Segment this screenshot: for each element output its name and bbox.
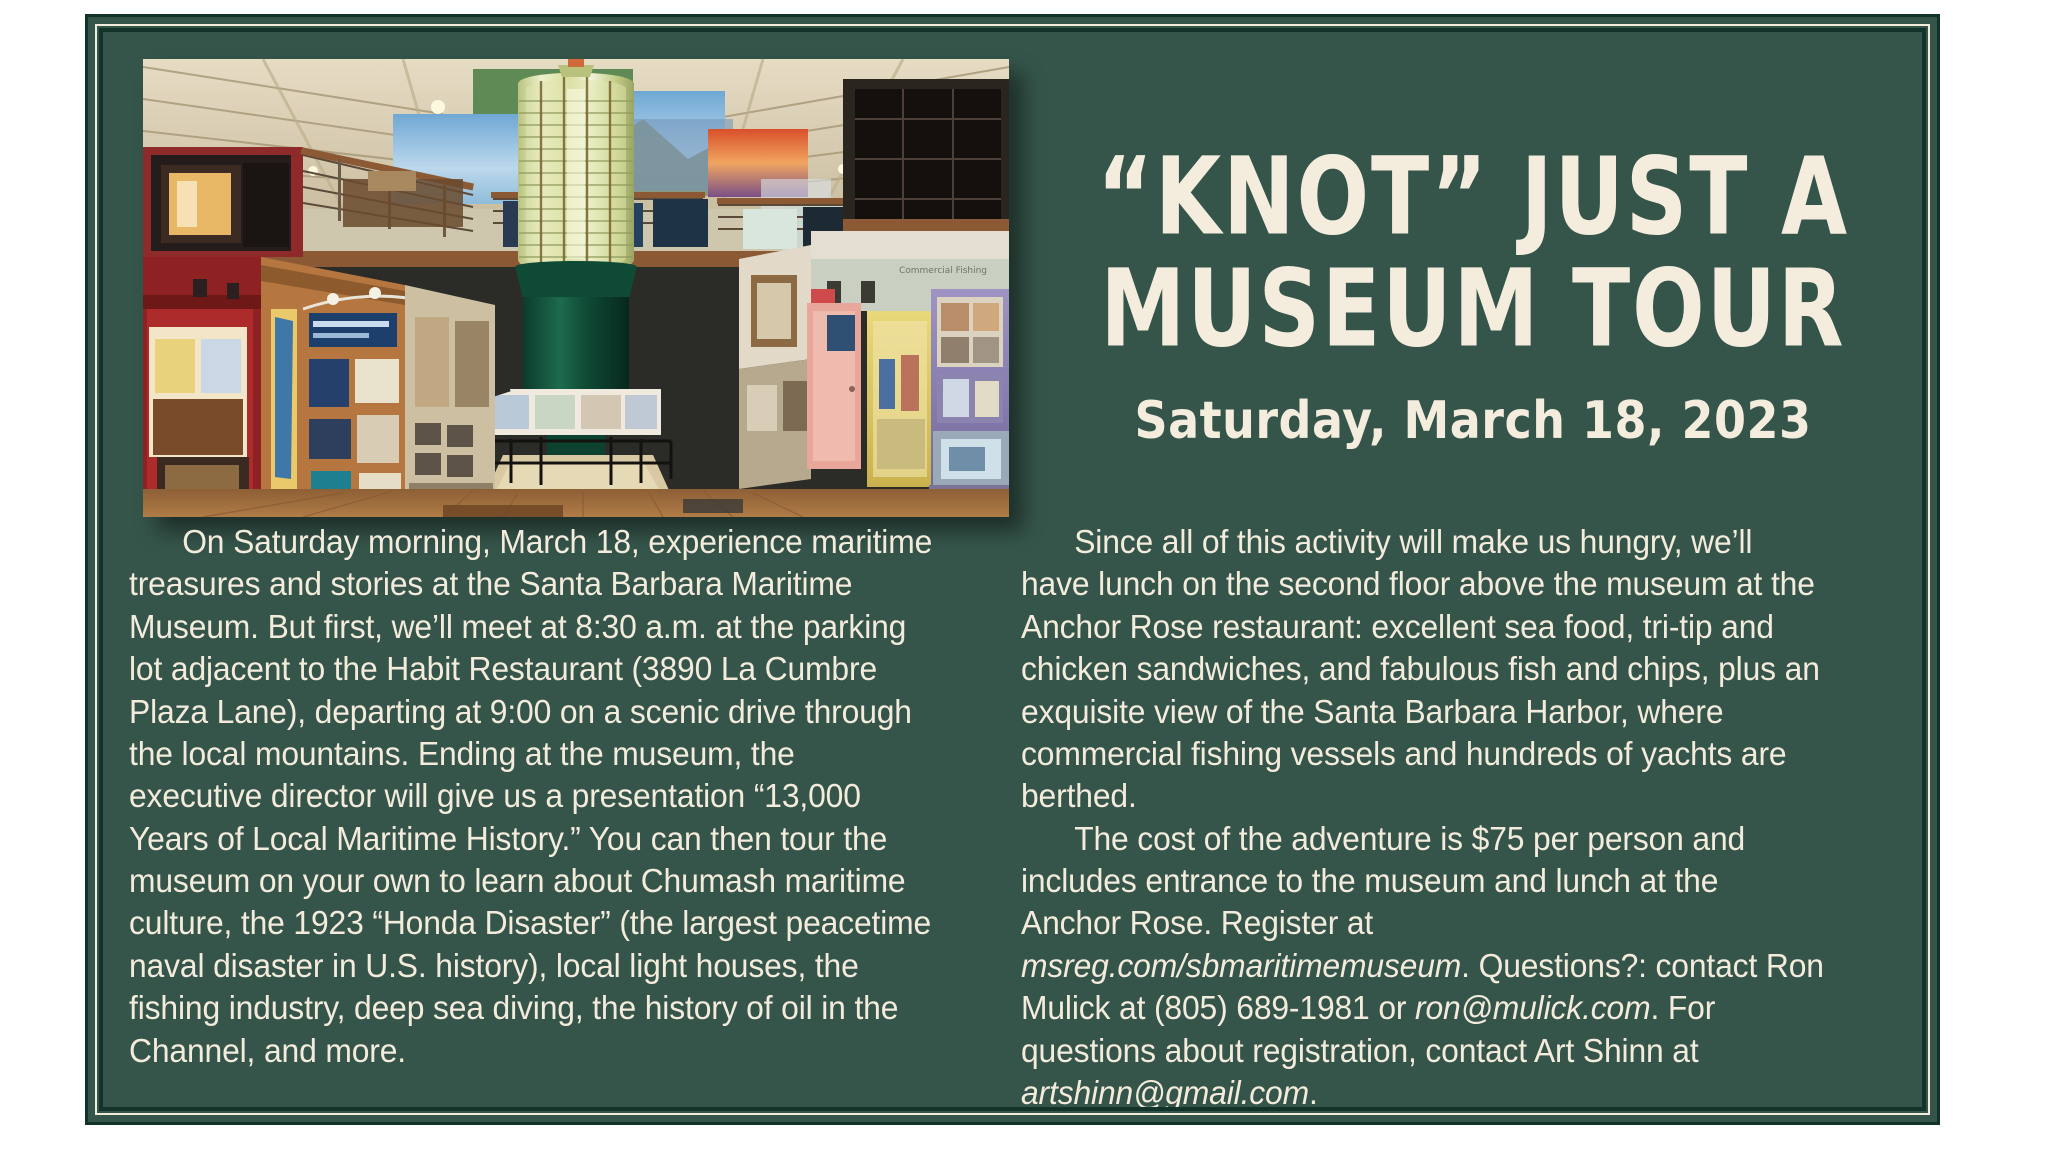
body-column-left: On Saturday morning, March 18, experienc… [129, 522, 933, 1107]
headline-line-2: MUSEUM TOUR [1046, 254, 1900, 363]
paragraph-lunch: Since all of this activity will make us … [1021, 522, 1825, 819]
body-text: . [1309, 1075, 1318, 1107]
flyer-frame: Commercial Fishing [85, 14, 1940, 1125]
headline-line-1: “KNOT” JUST A [1046, 142, 1900, 251]
flyer-panel: Commercial Fishing [103, 32, 1922, 1107]
svg-text:Commercial Fishing: Commercial Fishing [899, 266, 987, 276]
museum-interior-photo: Commercial Fishing [143, 59, 1009, 517]
body-column-right: Since all of this activity will make us … [1021, 522, 1825, 1107]
museum-interior-illustration: Commercial Fishing [143, 59, 1009, 517]
body-columns: On Saturday morning, March 18, experienc… [129, 522, 1896, 1107]
body-text: On Saturday morning, March 18, experienc… [129, 524, 932, 1070]
photo-image: Commercial Fishing [143, 59, 1009, 517]
paragraph-cost: The cost of the adventure is $75 per per… [1021, 819, 1825, 1107]
emphasis-text: ron@mulick.com [1415, 990, 1650, 1027]
paragraph-tour: On Saturday morning, March 18, experienc… [129, 522, 933, 1073]
emphasis-text: artshinn@gmail.com [1021, 1075, 1309, 1107]
body-text: The cost of the adventure is $75 per per… [1021, 821, 1745, 943]
headline-block: “KNOT” JUST A MUSEUM TOUR Saturday, Marc… [1033, 142, 1913, 444]
body-text: Since all of this activity will make us … [1021, 524, 1820, 815]
emphasis-text: msreg.com/sbmaritimemuseum [1021, 948, 1461, 985]
event-date-subhead: Saturday, March 18, 2023 [1033, 390, 1913, 450]
